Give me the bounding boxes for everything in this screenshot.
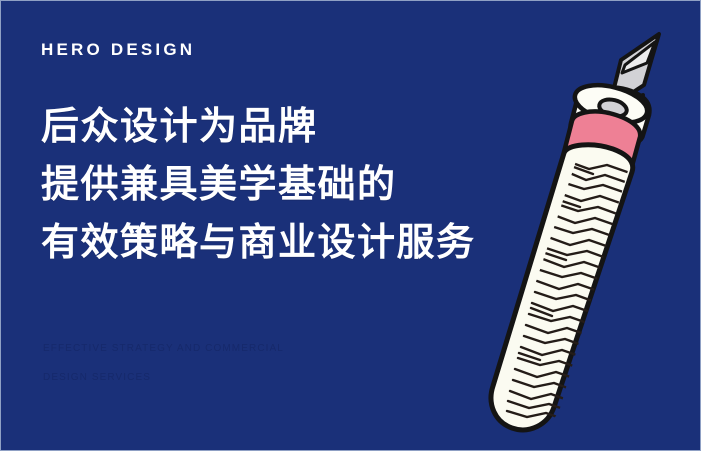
subtitle-line-2: DESIGN SERVICES — [43, 363, 284, 392]
headline-line-1: 后众设计为品牌 — [41, 98, 476, 156]
subtitle: EFFECTIVE STRATEGY AND COMMERCIAL DESIGN… — [43, 334, 284, 392]
poster-canvas: HERO DESIGN 后众设计为品牌 提供兼具美学基础的 有效策略与商业设计服… — [0, 0, 701, 451]
page-title: 后众设计为品牌 提供兼具美学基础的 有效策略与商业设计服务 — [41, 98, 476, 272]
headline-line-3: 有效策略与商业设计服务 — [41, 214, 476, 272]
subtitle-line-1: EFFECTIVE STRATEGY AND COMMERCIAL — [43, 334, 284, 363]
brand-wordmark: HERO DESIGN — [41, 41, 195, 58]
craft-knife-illustration — [441, 1, 701, 451]
knife-grip — [491, 145, 633, 430]
headline-line-2: 提供兼具美学基础的 — [41, 156, 476, 214]
